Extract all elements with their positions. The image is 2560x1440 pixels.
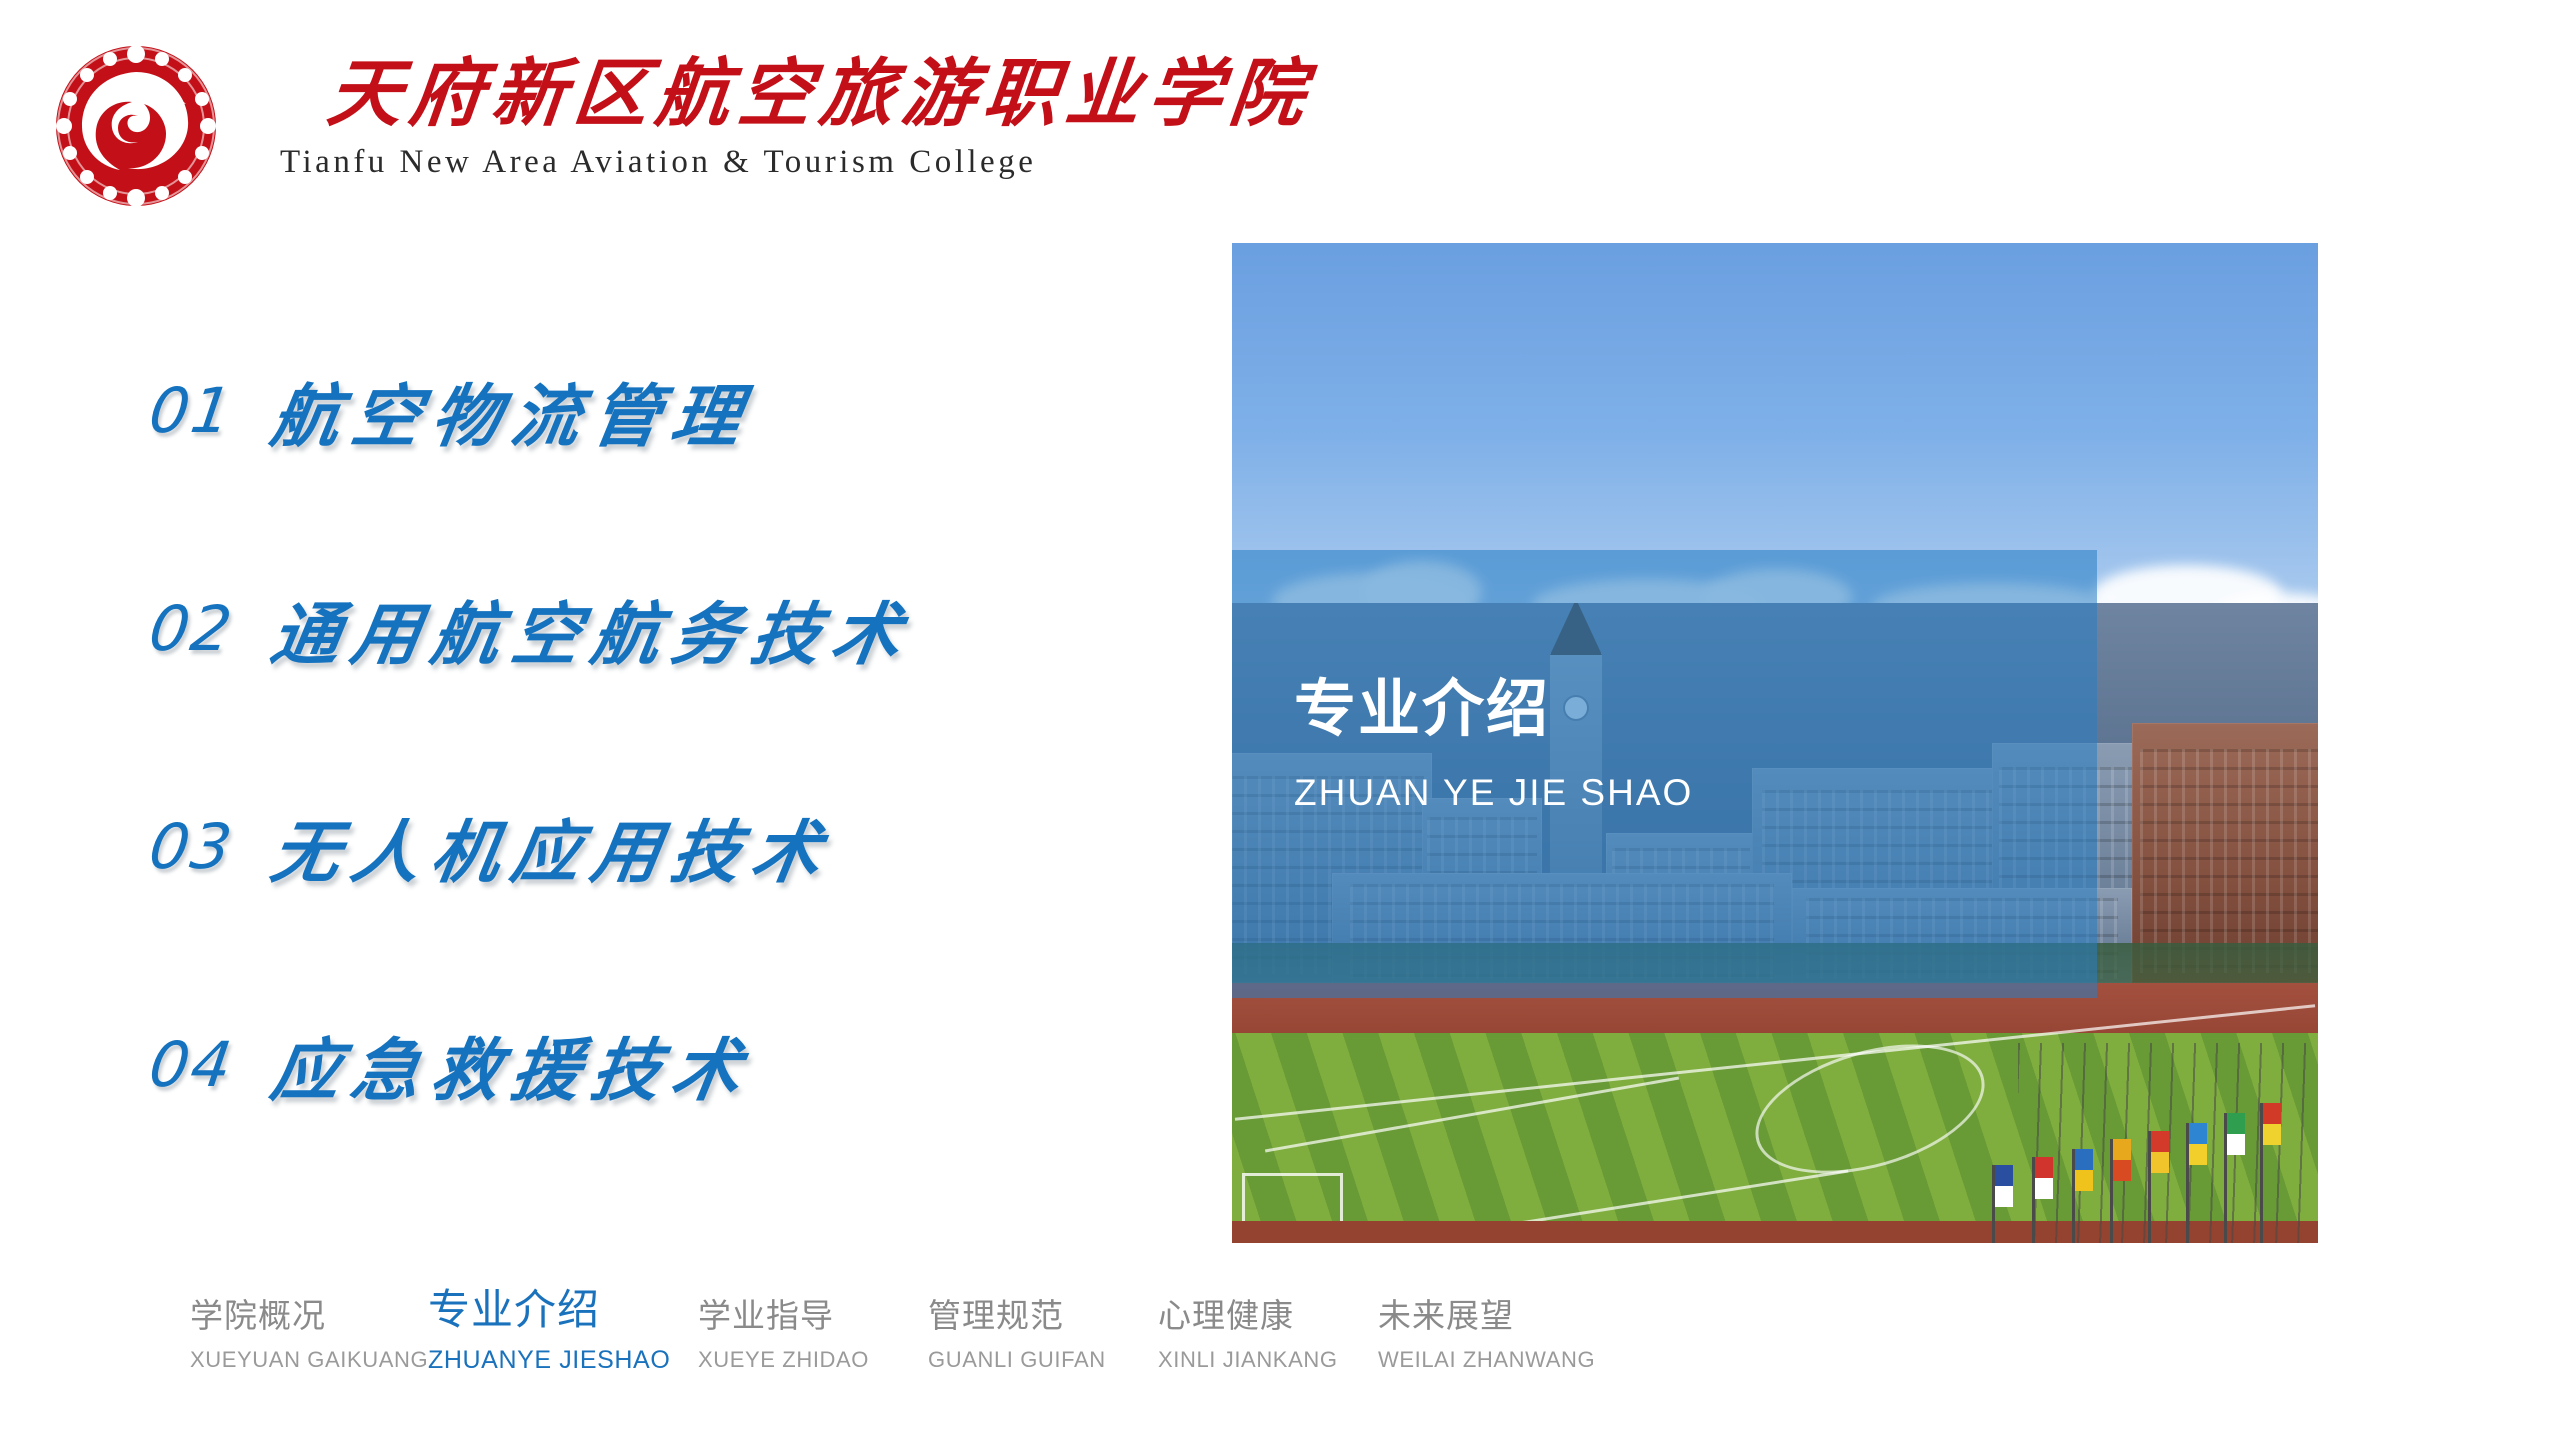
header-logo: 天府新区航空旅游职业学院 Tianfu New Area Aviation & … [52,36,1172,196]
nav-label-en: WEILAI ZHANWANG [1378,1343,1595,1377]
flag [2148,1131,2151,1243]
center-circle [1741,1021,2000,1198]
nav-item-xueyuan-gaikuang[interactable]: 学院概况 XUEYUAN GAIKUANG [190,1295,428,1377]
nav-label-cn: 管理规范 [928,1295,1106,1337]
major-label: 无人机应用技术 [265,797,841,896]
flag [2186,1123,2189,1243]
phoenix-circle-emblem-icon [52,42,220,210]
nav-label-en: XUEYUAN GAIKUANG [190,1343,428,1377]
major-label: 航空物流管理 [265,361,761,460]
flag [2260,1103,2263,1243]
nav-label-cn: 心理健康 [1158,1295,1338,1337]
major-number: 04 [145,1028,238,1101]
nav-label-en: XUEYE ZHIDAO [698,1343,869,1377]
nav-item-zhuanye-jieshao[interactable]: 专业介绍 ZHUANYE JIESHAO [428,1283,670,1377]
flag [2110,1139,2113,1243]
photo-title-overlay: 专业介绍 ZHUAN YE JIE SHAO [1232,550,2097,998]
overlay-title-pinyin: ZHUAN YE JIE SHAO [1294,772,1693,814]
logo-wordmark: 天府新区航空旅游职业学院 Tianfu New Area Aviation & … [280,44,1160,204]
nav-item-xueye-zhidao[interactable]: 学业指导 XUEYE ZHIDAO [698,1295,869,1377]
major-number: 01 [145,374,238,447]
major-number: 03 [145,810,238,883]
major-label: 通用航空航务技术 [265,579,921,678]
nav-label-cn: 专业介绍 [428,1283,670,1337]
major-number: 02 [145,592,238,665]
major-item-03[interactable]: 03 无人机应用技术 [150,776,833,916]
flag [2032,1157,2035,1243]
nav-item-guanli-guifan[interactable]: 管理规范 GUANLI GUIFAN [928,1295,1106,1377]
flag [2224,1113,2227,1243]
major-item-04[interactable]: 04 应急救援技术 [150,994,753,1134]
nav-label-cn: 未来展望 [1378,1295,1595,1337]
nav-item-xinli-jiankang[interactable]: 心理健康 XINLI JIANKANG [1158,1295,1338,1377]
flag [1992,1165,1995,1243]
nav-label-en: GUANLI GUIFAN [928,1343,1106,1377]
nav-label-cn: 学院概况 [190,1295,428,1337]
photo-soccer-field [1232,1033,2318,1243]
field-line [1265,1077,1679,1153]
major-label: 应急救援技术 [265,1015,761,1114]
institution-name-en: Tianfu New Area Aviation & Tourism Colle… [280,144,1036,181]
flag [2072,1149,2075,1243]
major-list: 01 航空物流管理 02 通用航空航务技术 03 无人机应用技术 04 应急救援… [150,340,1170,1140]
institution-name-cn: 天府新区航空旅游职业学院 [323,44,1318,144]
overlay-title-cn: 专业介绍 [1294,658,1550,748]
nav-label-en: XINLI JIANKANG [1158,1343,1338,1377]
nav-label-en: ZHUANYE JIESHAO [428,1343,670,1377]
campus-photo: 专业介绍 ZHUAN YE JIE SHAO [1232,243,2318,1243]
nav-label-cn: 学业指导 [698,1295,869,1337]
major-item-02[interactable]: 02 通用航空航务技术 [150,558,913,698]
major-item-01[interactable]: 01 航空物流管理 [150,340,753,480]
bottom-nav: 学院概况 XUEYUAN GAIKUANG 专业介绍 ZHUANYE JIESH… [0,1295,2560,1415]
nav-item-weilai-zhanwang[interactable]: 未来展望 WEILAI ZHANWANG [1378,1295,1595,1377]
